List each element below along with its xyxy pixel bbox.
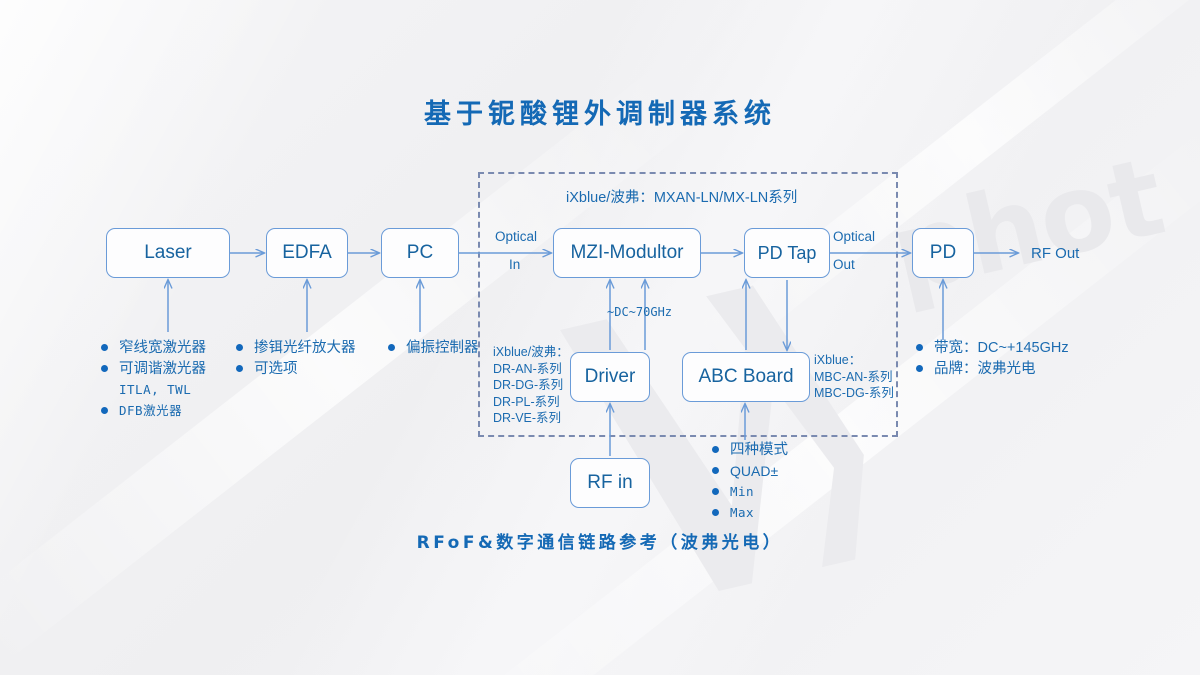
bullet-icon: [388, 344, 395, 351]
optical-out-label-bottom: Out: [833, 256, 855, 273]
list-item-label: 偏振控制器: [406, 338, 479, 358]
bullet-icon: [101, 407, 108, 414]
drive-bandwidth-label: ~DC~70GHz: [607, 304, 672, 321]
bullet-icon: [712, 488, 719, 495]
bullet-icon: [101, 365, 108, 372]
node-mzi-modulator[interactable]: MZI-Modultor: [553, 228, 701, 278]
list-item-label: Min: [730, 482, 754, 502]
node-pc-label: PC: [407, 242, 433, 264]
node-edfa[interactable]: EDFA: [266, 228, 348, 278]
list-item-label: ITLA, TWL: [119, 380, 191, 400]
page-caption: RFoF&数字通信链路参考（波弗光电）: [0, 528, 1200, 553]
node-abc-board[interactable]: ABC Board: [682, 352, 810, 402]
abc-series-note: iXblue： MBC-AN-系列 MBC-DG-系列: [814, 352, 894, 402]
abc-mode-bullets: 四种模式 QUAD± Min Max: [712, 440, 788, 524]
list-item: QUAD±: [712, 461, 788, 481]
optical-in-label-top: Optical: [495, 228, 537, 245]
list-item: 品牌：波弗光电: [916, 359, 1069, 379]
bullet-icon: [712, 509, 719, 516]
node-abc-board-label: ABC Board: [698, 366, 793, 388]
list-item: 带宽：DC~+145GHz: [916, 338, 1069, 358]
node-rf-in[interactable]: RF in: [570, 458, 650, 508]
driver-series-note: iXblue/波弗： DR-AN-系列 DR-DG-系列 DR-PL-系列 DR…: [493, 344, 569, 427]
bullet-icon: [916, 344, 923, 351]
node-driver[interactable]: Driver: [570, 352, 650, 402]
bullet-icon: [236, 365, 243, 372]
list-item-label: 掺铒光纤放大器: [254, 338, 356, 358]
list-item: 偏振控制器: [388, 338, 479, 358]
pc-bullets: 偏振控制器: [388, 338, 479, 359]
list-item-label: 窄线宽激光器: [119, 338, 206, 358]
bullet-icon: [712, 467, 719, 474]
list-item-label: 品牌：波弗光电: [934, 359, 1036, 379]
node-pd[interactable]: PD: [912, 228, 974, 278]
optical-in-label-bottom: In: [509, 256, 520, 273]
driver-series-line: DR-AN-系列: [493, 361, 569, 378]
list-item: DFB激光器: [101, 401, 206, 421]
optical-out-label-top: Optical: [833, 228, 875, 245]
pd-bullets: 带宽：DC~+145GHz 品牌：波弗光电: [916, 338, 1069, 380]
bullet-icon: [712, 446, 719, 453]
list-item-label: 带宽：DC~+145GHz: [934, 338, 1069, 358]
list-item: 可选项: [236, 359, 356, 379]
node-mzi-modulator-label: MZI-Modultor: [571, 242, 684, 264]
driver-series-line: DR-PL-系列: [493, 394, 569, 411]
driver-series-line: iXblue/波弗：: [493, 344, 569, 361]
node-pd-tap-label: PD Tap: [758, 243, 817, 264]
list-item-label: 四种模式: [730, 440, 788, 460]
list-item: ITLA, TWL: [101, 380, 206, 400]
node-pd-tap[interactable]: PD Tap: [744, 228, 830, 278]
list-item-label: DFB激光器: [119, 401, 182, 421]
diagram-canvas: phot 基于铌酸锂外调制器系统 iXblue/波弗：MXAN-LN/MX-LN…: [0, 0, 1200, 675]
node-pc[interactable]: PC: [381, 228, 459, 278]
list-item: 四种模式: [712, 440, 788, 460]
bullet-icon: [916, 365, 923, 372]
driver-series-line: DR-VE-系列: [493, 410, 569, 427]
page-title: 基于铌酸锂外调制器系统: [0, 92, 1200, 131]
list-item-label: 可调谐激光器: [119, 359, 206, 379]
abc-series-line: MBC-AN-系列: [814, 369, 894, 386]
bullet-icon: [101, 344, 108, 351]
list-item: 掺铒光纤放大器: [236, 338, 356, 358]
abc-series-line: iXblue：: [814, 352, 894, 369]
node-driver-label: Driver: [585, 366, 636, 388]
node-laser[interactable]: Laser: [106, 228, 230, 278]
modulator-zone-label: iXblue/波弗：MXAN-LN/MX-LN系列: [566, 190, 797, 207]
bullet-icon: [236, 344, 243, 351]
list-item: Min: [712, 482, 788, 502]
node-pd-label: PD: [930, 242, 956, 264]
list-item: 可调谐激光器: [101, 359, 206, 379]
node-rf-in-label: RF in: [587, 472, 632, 494]
edfa-bullets: 掺铒光纤放大器 可选项: [236, 338, 356, 380]
node-edfa-label: EDFA: [282, 242, 332, 264]
watermark-text: phot: [880, 135, 1173, 318]
list-item-label: Max: [730, 503, 754, 523]
driver-series-line: DR-DG-系列: [493, 377, 569, 394]
abc-series-line: MBC-DG-系列: [814, 385, 894, 402]
list-item-label: QUAD±: [730, 461, 778, 481]
laser-bullets: 窄线宽激光器 可调谐激光器 ITLA, TWL DFB激光器: [101, 338, 206, 422]
list-item: Max: [712, 503, 788, 523]
list-item-label: 可选项: [254, 359, 298, 379]
node-laser-label: Laser: [144, 242, 192, 264]
rf-out-label: RF Out: [1031, 245, 1079, 262]
list-item: 窄线宽激光器: [101, 338, 206, 358]
